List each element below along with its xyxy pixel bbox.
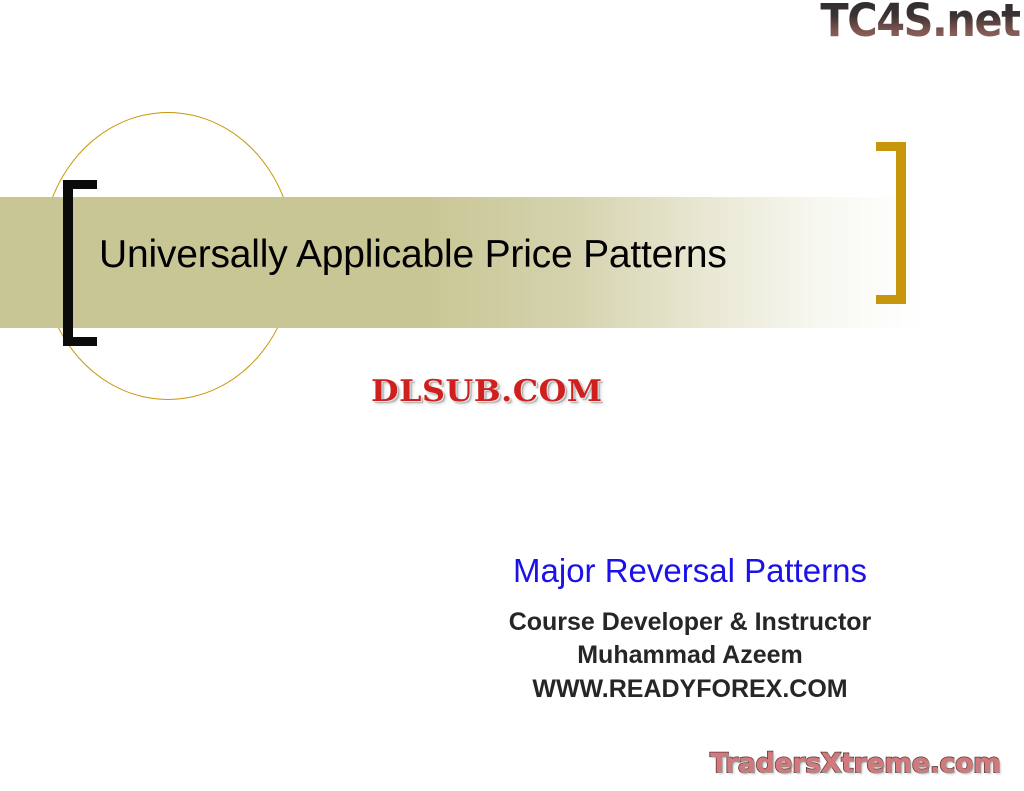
dlsub-watermark: DLSUB.COM bbox=[371, 374, 603, 409]
presentation-slide: TC4S.net Universally Applicable Price Pa… bbox=[0, 0, 1024, 791]
right-bracket-decoration bbox=[876, 142, 906, 304]
left-bracket-decoration bbox=[63, 180, 97, 346]
credits-block: Course Developer & Instructor Muhammad A… bbox=[312, 606, 1024, 706]
credit-line-role: Course Developer & Instructor bbox=[312, 606, 1024, 639]
slide-subtitle: Major Reversal Patterns bbox=[312, 552, 1024, 590]
credit-line-name: Muhammad Azeem bbox=[312, 639, 1024, 672]
credit-line-website: WWW.READYFOREX.COM bbox=[312, 673, 1024, 706]
tc4s-watermark: TC4S.net bbox=[821, 0, 1020, 43]
tradersxtreme-watermark: TradersXtreme.com bbox=[710, 748, 1001, 779]
slide-title: Universally Applicable Price Patterns bbox=[99, 234, 889, 277]
